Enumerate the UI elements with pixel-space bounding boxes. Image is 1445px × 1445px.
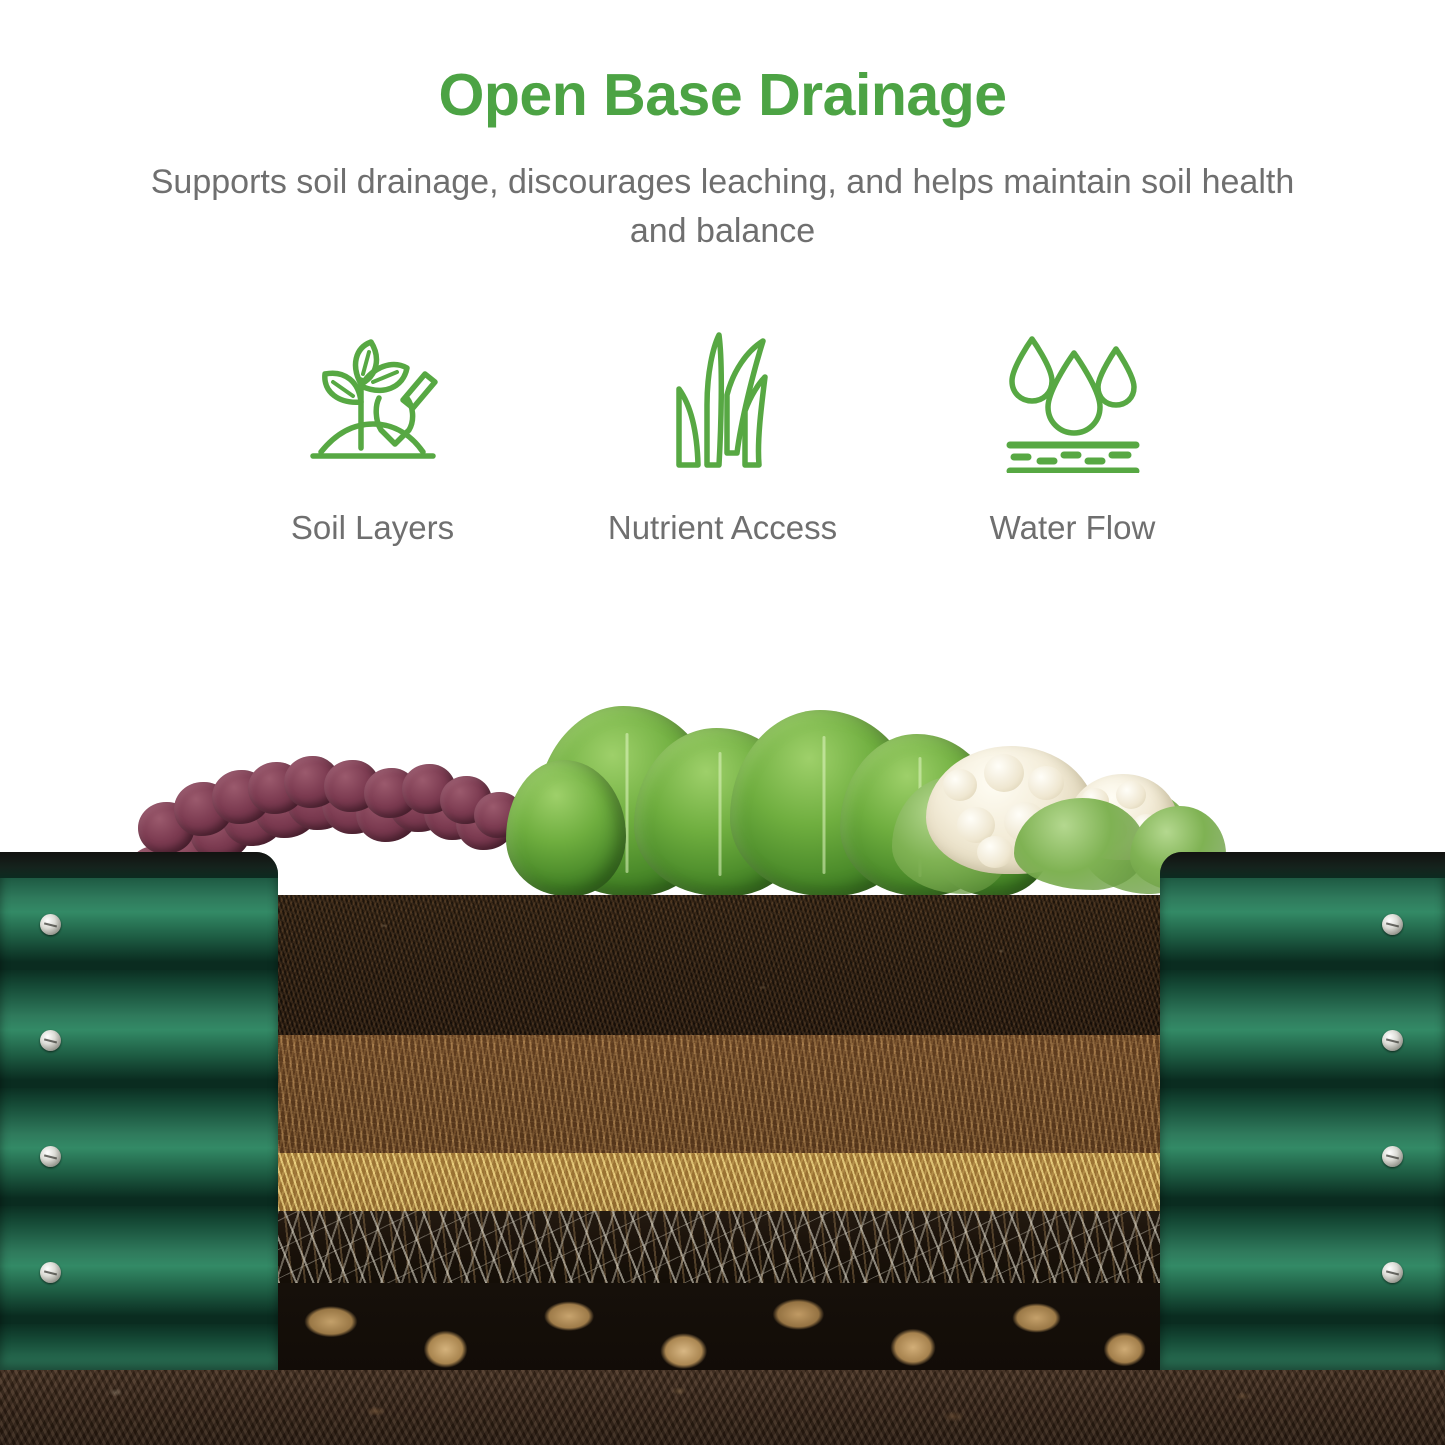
panel-screw <box>40 914 61 935</box>
header-section: Open Base Drainage Supports soil drainag… <box>0 0 1445 257</box>
vegetable-row <box>278 690 1160 900</box>
soil-layer-twigs <box>278 1211 1160 1283</box>
feature-item-nutrient-access: Nutrient Access <box>593 327 853 552</box>
page-subtitle: Supports soil drainage, discourages leac… <box>128 158 1318 257</box>
soil-layer-logs <box>278 1283 1160 1375</box>
panel-screw <box>40 1146 61 1167</box>
water-drops-soil-icon <box>943 327 1203 477</box>
feature-label-nutrient-access: Nutrient Access <box>593 505 853 552</box>
feature-item-water-flow: Water Flow <box>943 327 1203 552</box>
panel-screw <box>40 1030 61 1051</box>
soil-layer-topsoil <box>278 895 1160 1035</box>
soil-layer-straw <box>278 1153 1160 1211</box>
panel-rim-left <box>0 852 278 878</box>
ground-soil <box>0 1370 1445 1445</box>
soil-layer-mulch <box>278 1035 1160 1153</box>
panel-screw <box>1382 1030 1403 1051</box>
feature-list: Soil Layers Nutrient Access <box>133 327 1313 552</box>
garden-bed-panel-right <box>1160 852 1445 1372</box>
page-title: Open Base Drainage <box>0 62 1445 128</box>
garden-bed-panel-left <box>0 852 278 1372</box>
panel-screw <box>1382 914 1403 935</box>
panel-screw <box>1382 1262 1403 1283</box>
soil-cross-section <box>278 895 1160 1375</box>
feature-item-soil-layers: Soil Layers <box>243 327 503 552</box>
feature-label-water-flow: Water Flow <box>943 505 1203 552</box>
feature-label-soil-layers: Soil Layers <box>243 505 503 552</box>
raised-garden-bed-photo <box>0 690 1445 1445</box>
seedling-shovel-icon <box>243 327 503 477</box>
panel-screw <box>1382 1146 1403 1167</box>
grass-blades-icon <box>593 327 853 477</box>
panel-screw <box>40 1262 61 1283</box>
panel-rim-right <box>1160 852 1445 878</box>
